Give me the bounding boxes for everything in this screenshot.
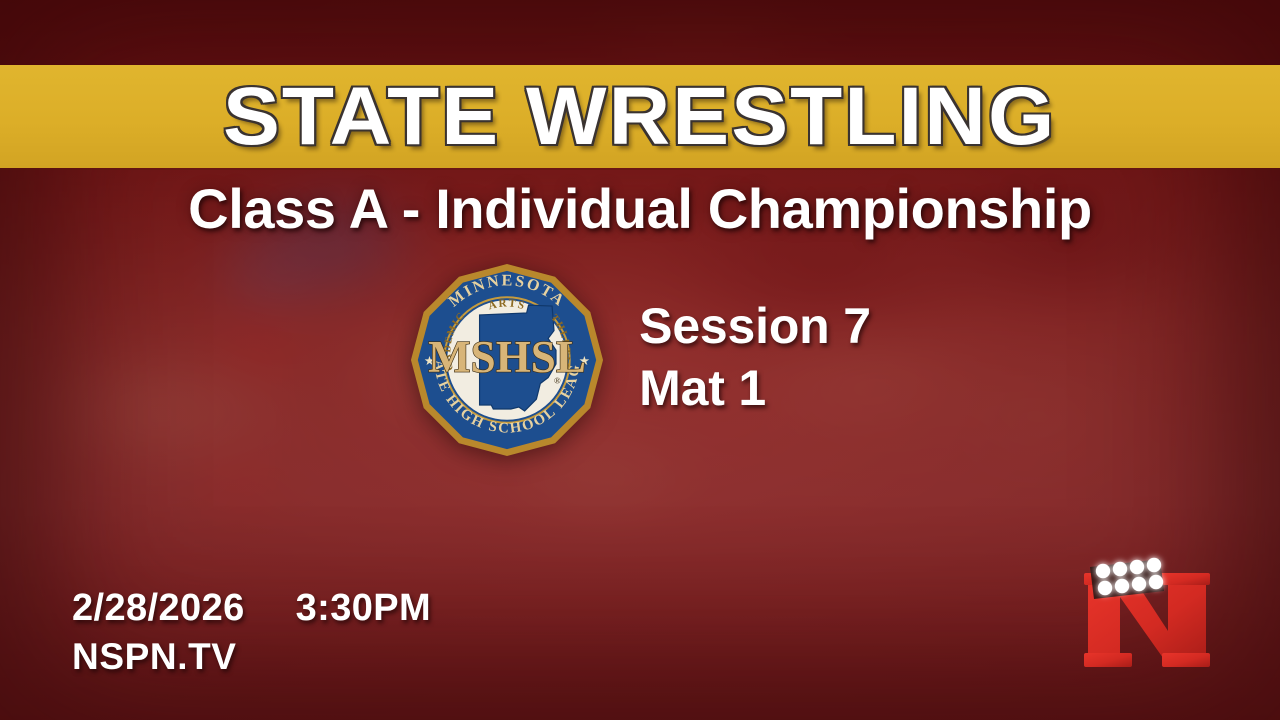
network-website: NSPN.TV [72, 636, 431, 678]
nspn-n-logo-icon [1072, 545, 1222, 685]
mshsl-seal-icon: MINNESOTA STATE HIGH SCHOOL LEAGUE ARTS … [409, 262, 605, 458]
seal-registered-mark: ® [554, 376, 561, 386]
session-number: Session 7 [639, 295, 871, 357]
event-subtitle: Class A - Individual Championship [0, 176, 1280, 241]
broadcast-title-card: STATE WRESTLING Class A - Individual Cha… [0, 0, 1280, 720]
seal-acronym-text: MSHSL [428, 332, 586, 382]
footer-info: 2/28/2026 3:30PM NSPN.TV [72, 587, 431, 678]
event-time: 3:30PM [296, 587, 431, 629]
event-date: 2/28/2026 [72, 587, 245, 629]
sport-banner-title: STATE WRESTLING [223, 76, 1056, 158]
mat-number: Mat 1 [639, 357, 871, 419]
session-info: Session 7 Mat 1 [639, 295, 871, 425]
seal-session-row: MINNESOTA STATE HIGH SCHOOL LEAGUE ARTS … [0, 262, 1280, 458]
sport-banner: STATE WRESTLING [0, 65, 1280, 168]
stadium-light-fixture-icon [1090, 558, 1164, 599]
event-datetime: 2/28/2026 3:30PM [72, 587, 431, 630]
